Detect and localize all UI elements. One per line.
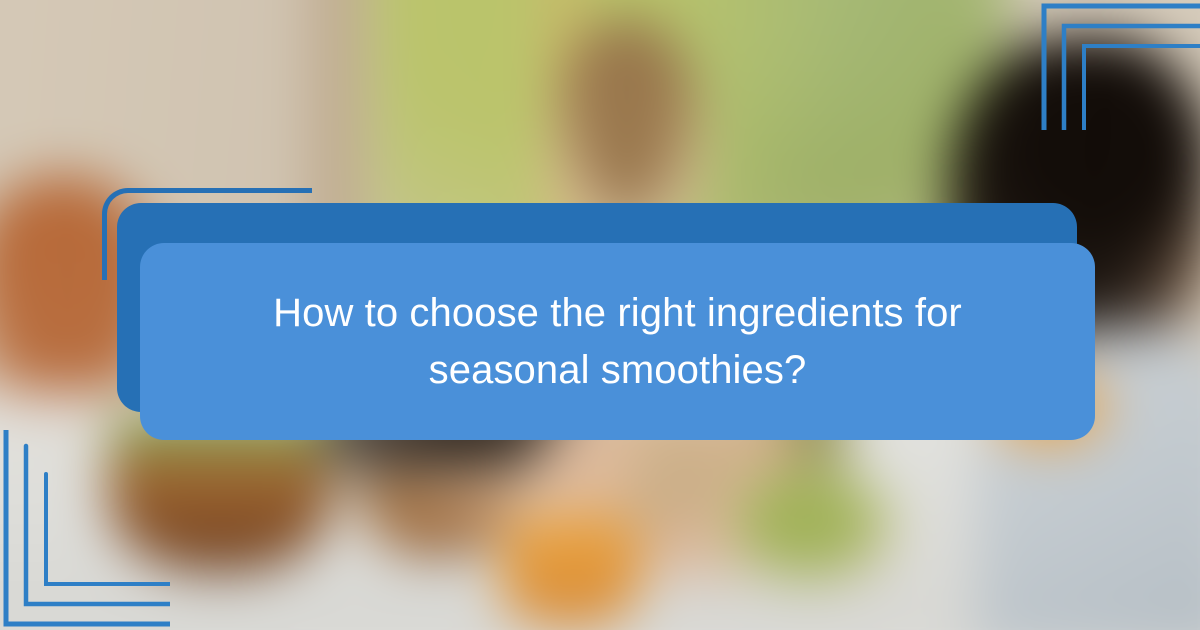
headline-container: How to choose the right ingredients for …	[140, 243, 1095, 440]
background-food-juice	[500, 516, 640, 626]
corner-bracket-top-right	[1030, 0, 1200, 130]
social-card-canvas: How to choose the right ingredients for …	[0, 0, 1200, 630]
page-title: How to choose the right ingredients for …	[268, 285, 968, 399]
background-food-salad	[730, 468, 900, 588]
corner-bracket-bottom-left	[0, 430, 170, 630]
